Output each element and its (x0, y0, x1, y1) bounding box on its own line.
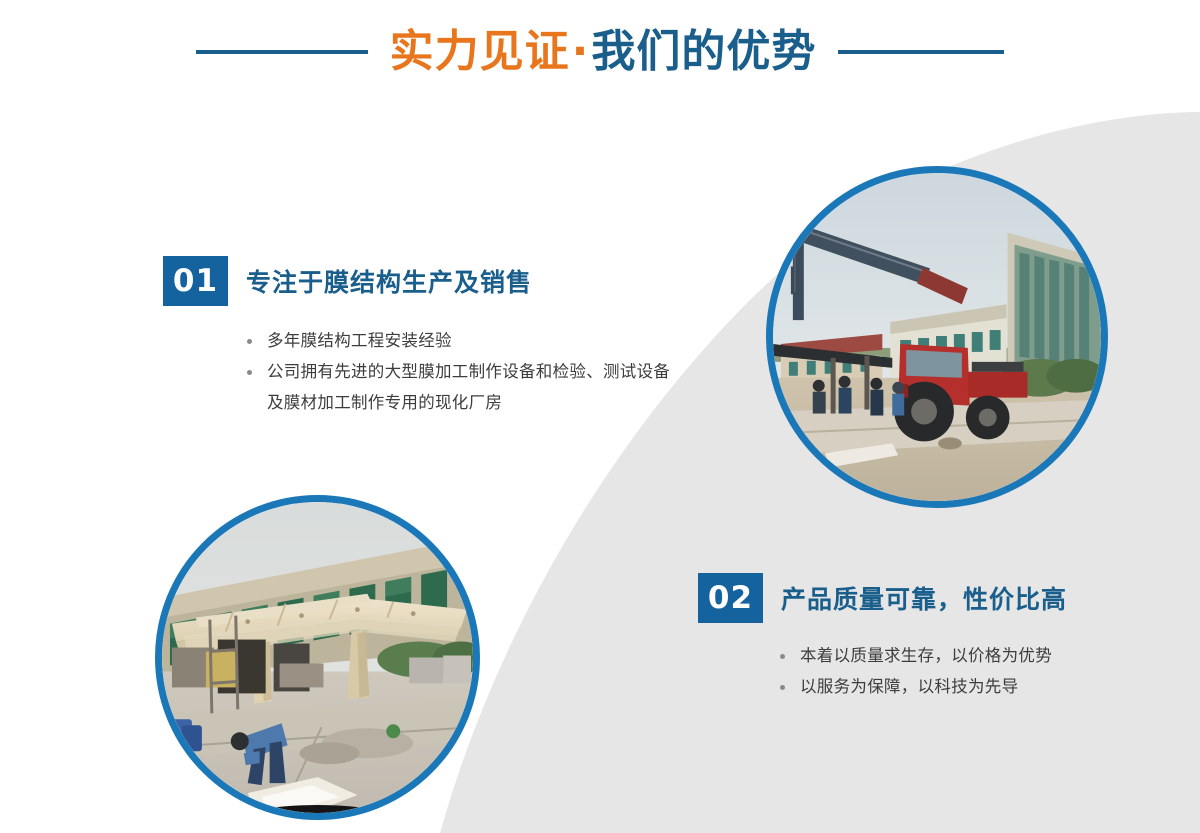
membrane-carport-construction-photo (155, 495, 480, 820)
feature-01-heading: 01 专注于膜结构生产及销售 (163, 256, 673, 306)
feature-01-title: 专注于膜结构生产及销售 (246, 263, 532, 299)
feature-01-bullet-list: 多年膜结构工程安装经验 公司拥有先进的大型膜加工制作设备和检验、测试设备及膜材加… (243, 326, 673, 419)
feature-02-bullet-list: 本着以质量求生存，以价格为优势 以服务为保障，以科技为先导 (776, 641, 1116, 703)
header-rule-right (838, 50, 1004, 54)
membrane-carport-illustration (162, 502, 473, 813)
advantages-page: 实力见证·我们的优势 (0, 0, 1200, 833)
list-item: 本着以质量求生存，以价格为优势 (776, 641, 1116, 672)
header-rule-left (196, 50, 368, 54)
page-header: 实力见证·我们的优势 (0, 0, 1200, 118)
crane-tractor-illustration (773, 173, 1101, 501)
page-title-orange: 实力见证 (390, 26, 570, 77)
feature-02-title: 产品质量可靠，性价比高 (781, 580, 1067, 616)
crane-tractor-installation-photo (766, 166, 1108, 508)
feature-01-number-badge: 01 (163, 256, 228, 306)
feature-block-01: 01 专注于膜结构生产及销售 多年膜结构工程安装经验 公司拥有先进的大型膜加工制… (163, 256, 673, 419)
list-item: 公司拥有先进的大型膜加工制作设备和检验、测试设备及膜材加工制作专用的现化厂房 (243, 357, 673, 419)
feature-02-number-badge: 02 (698, 573, 763, 623)
feature-02-heading: 02 产品质量可靠，性价比高 (698, 573, 1116, 623)
list-item: 多年膜结构工程安装经验 (243, 326, 673, 357)
page-title-blue: 我们的优势 (591, 26, 816, 77)
page-title-separator-dot: · (570, 26, 592, 77)
list-item: 以服务为保障，以科技为先导 (776, 672, 1116, 703)
feature-block-02: 02 产品质量可靠，性价比高 本着以质量求生存，以价格为优势 以服务为保障，以科… (698, 573, 1116, 703)
page-title: 实力见证·我们的优势 (390, 30, 817, 74)
